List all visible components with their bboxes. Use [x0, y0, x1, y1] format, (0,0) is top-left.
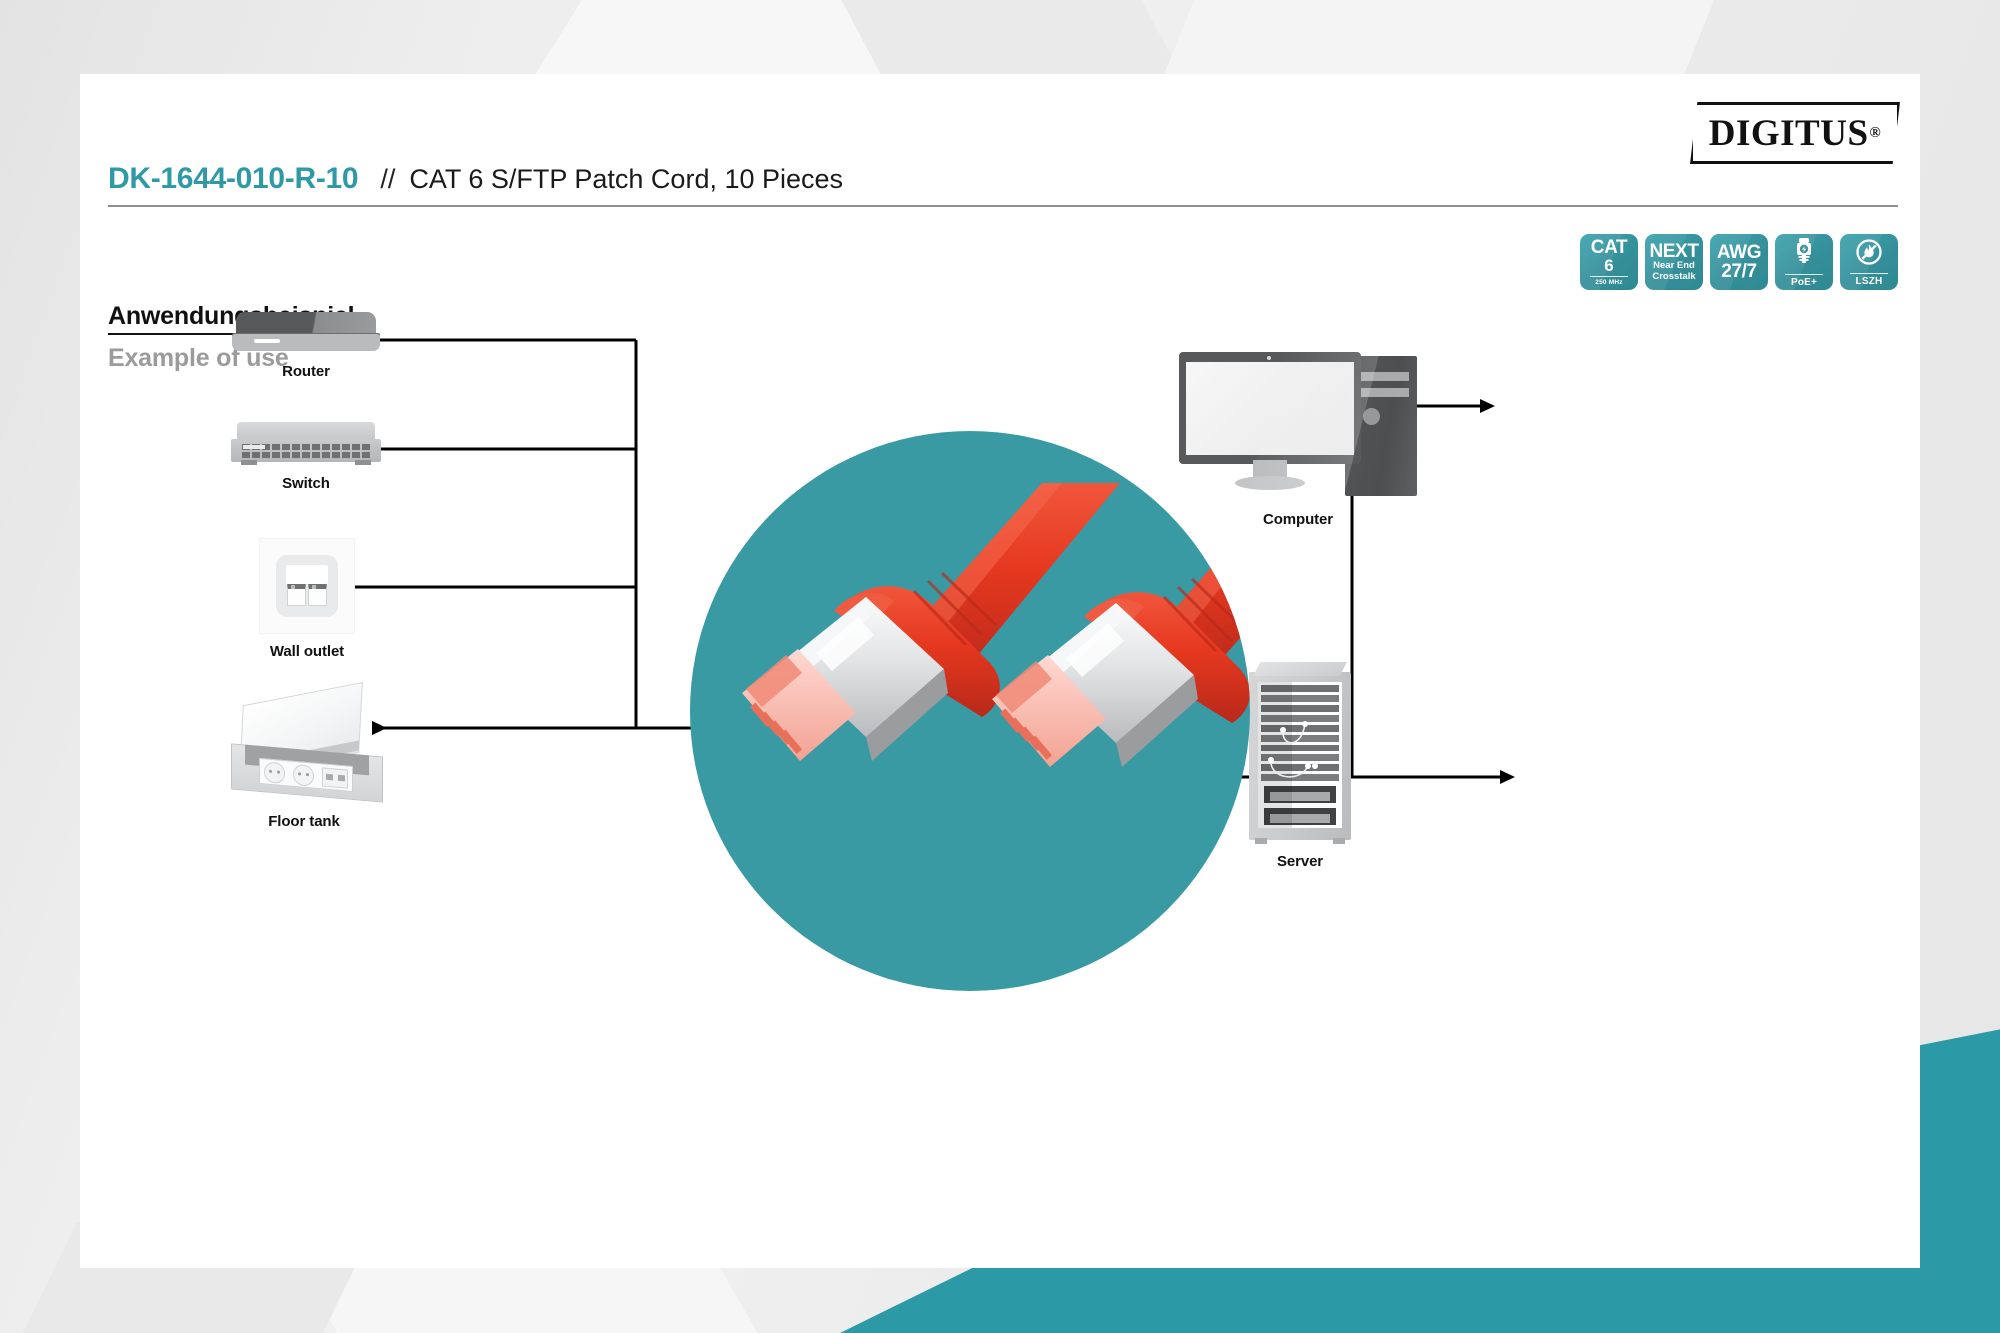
- next-badge-line2: Near End: [1653, 261, 1695, 271]
- awg-badge-line1: AWG: [1717, 243, 1761, 262]
- node-switch[interactable]: Switch: [224, 422, 388, 492]
- cat6-badge-line2: 6: [1604, 257, 1613, 275]
- divider: [1590, 276, 1628, 277]
- logo-wordmark: DIGITUS®: [1690, 102, 1900, 164]
- poe-badge: PoE+: [1775, 234, 1833, 290]
- node-floor-tank[interactable]: Floor tank: [184, 694, 424, 830]
- registered-mark: ®: [1870, 125, 1882, 142]
- product-sku: DK-1644-010-R-10: [108, 162, 358, 196]
- poe-badge-label: PoE+: [1791, 277, 1817, 288]
- cat6-badge-line3: 250 MHz: [1595, 279, 1622, 286]
- server-icon: [1249, 662, 1351, 844]
- patch-cord-image: [690, 431, 1250, 991]
- cat6-badge: CAT 6 250 MHz: [1580, 234, 1638, 290]
- page-root: DIGITUS® DK-1644-010-R-10 // CAT 6 S/FTP…: [0, 0, 2000, 1333]
- logo-wordmark-text: DIGITUS: [1709, 112, 1869, 155]
- lszh-badge-label: LSZH: [1856, 276, 1883, 287]
- wall-outlet-icon: [259, 538, 355, 634]
- node-server[interactable]: Server: [1235, 662, 1365, 870]
- title-separator: //: [380, 164, 395, 195]
- lszh-badge: LSZH: [1840, 234, 1898, 290]
- product-hero: [690, 431, 1250, 991]
- content-card: DIGITUS® DK-1644-010-R-10 // CAT 6 S/FTP…: [80, 74, 1920, 1268]
- wall-outlet-label: Wall outlet: [252, 643, 362, 660]
- next-badge: NEXT Near End Crosstalk: [1645, 234, 1703, 290]
- awg-badge-line2: 27/7: [1721, 262, 1756, 281]
- rj45-plug-lightning-icon: [1793, 237, 1815, 272]
- awg-badge: AWG 27/7: [1710, 234, 1768, 290]
- node-wall-outlet[interactable]: Wall outlet: [252, 538, 362, 660]
- switch-icon: [231, 422, 381, 466]
- floor-tank-icon: [223, 694, 385, 804]
- server-label: Server: [1235, 853, 1365, 870]
- next-badge-line3: Crosstalk: [1652, 272, 1695, 282]
- cat6-badge-line1: CAT: [1591, 238, 1627, 257]
- divider: [1785, 274, 1823, 275]
- product-title-row: DK-1644-010-R-10 // CAT 6 S/FTP Patch Co…: [108, 162, 1898, 207]
- product-description: CAT 6 S/FTP Patch Cord, 10 Pieces: [409, 164, 843, 195]
- router-label: Router: [226, 363, 386, 380]
- switch-label: Switch: [224, 475, 388, 492]
- router-icon: [232, 312, 380, 354]
- no-flame-icon: [1855, 238, 1883, 271]
- digitus-logo: DIGITUS®: [1690, 102, 1900, 164]
- divider: [1850, 273, 1888, 274]
- node-router[interactable]: Router: [226, 312, 386, 380]
- next-badge-line1: NEXT: [1649, 242, 1698, 261]
- spec-badges: CAT 6 250 MHz NEXT Near End Crosstalk AW…: [1580, 234, 1898, 290]
- floor-tank-label: Floor tank: [184, 813, 424, 830]
